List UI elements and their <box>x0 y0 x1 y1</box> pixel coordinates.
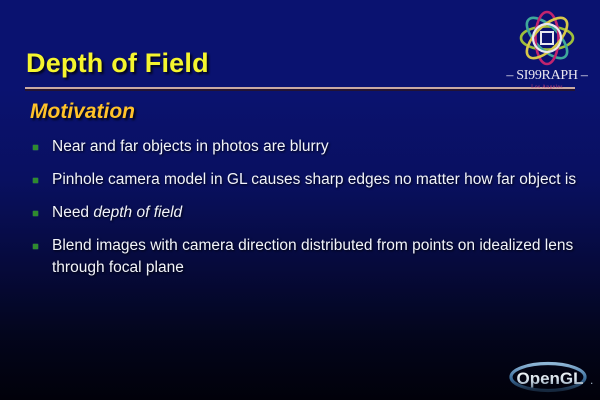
section-subtitle: Motivation <box>30 100 135 124</box>
opengl-oval-icon: OpenGL . <box>508 360 596 394</box>
bullet-square-icon <box>33 211 38 216</box>
siggraph-rosette-icon <box>498 8 596 70</box>
list-item-text-emphasis: depth of field <box>93 204 182 221</box>
list-item-text: Blend images with camera direction distr… <box>52 235 578 279</box>
bullet-square-icon <box>33 244 38 249</box>
bullet-list: Near and far objects in photos are blurr… <box>26 136 578 290</box>
bullet-square-icon <box>33 178 38 183</box>
list-item: Need depth of field <box>26 202 578 224</box>
list-item: Near and far objects in photos are blurr… <box>26 136 578 158</box>
list-item: Pinhole camera model in GL causes sharp … <box>26 169 578 191</box>
bullet-square-icon <box>33 145 38 150</box>
list-item-text-lead: Need <box>52 204 93 221</box>
page-title: Depth of Field <box>26 48 209 79</box>
siggraph-logo: – SI99RAPH – Los Angeles <box>498 8 596 104</box>
siggraph-sublabel: Los Angeles <box>498 84 596 90</box>
opengl-logo: OpenGL . <box>508 360 596 394</box>
title-divider <box>25 87 575 89</box>
siggraph-wordmark: – SI99RAPH – <box>498 68 596 84</box>
list-item: Blend images with camera direction distr… <box>26 235 578 279</box>
list-item-text: Pinhole camera model in GL causes sharp … <box>52 169 578 191</box>
list-item-text: Need depth of field <box>52 202 578 224</box>
opengl-wordmark: OpenGL <box>516 369 583 388</box>
opengl-trailing-dot: . <box>590 373 593 387</box>
slide-canvas: Depth of Field Motivation Near and far o… <box>0 0 600 400</box>
list-item-text: Near and far objects in photos are blurr… <box>52 136 578 158</box>
